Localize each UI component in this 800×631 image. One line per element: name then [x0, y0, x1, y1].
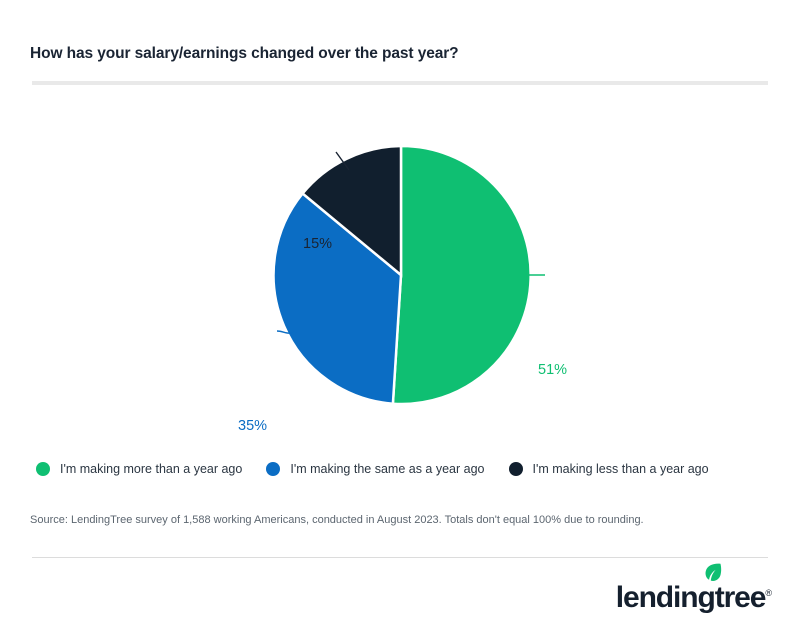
legend-label-more: I'm making more than a year ago: [60, 462, 242, 476]
pie-data-label-same: 35%: [238, 418, 267, 434]
legend-item-more[interactable]: I'm making more than a year ago: [36, 462, 242, 476]
brand-wordmark-container: lendingtree®: [616, 578, 772, 613]
pie-data-label-more: 51%: [538, 362, 567, 378]
footer-divider: [32, 557, 768, 558]
legend-item-less[interactable]: I'm making less than a year ago: [509, 462, 709, 476]
brand-name: lendingtree: [616, 581, 766, 614]
legend-swatch-less-icon: [509, 462, 523, 476]
pie-slices: [274, 146, 531, 404]
legend-label-less: I'm making less than a year ago: [533, 462, 709, 476]
title-divider: [32, 81, 768, 85]
pie-slice-more[interactable]: [393, 146, 531, 404]
brand-trademark: ®: [765, 588, 772, 598]
brand-logo[interactable]: lendingtree®: [616, 575, 772, 615]
legend-item-same[interactable]: I'm making the same as a year ago: [266, 462, 484, 476]
legend-swatch-more-icon: [36, 462, 50, 476]
pie-chart-svg: [0, 100, 800, 430]
page-title: How has your salary/earnings changed ove…: [30, 44, 750, 64]
chart-page: How has your salary/earnings changed ove…: [0, 0, 800, 631]
legend-swatch-same-icon: [266, 462, 280, 476]
pie-chart: 51% 35% 15%: [0, 100, 800, 430]
source-note: Source: LendingTree survey of 1,588 work…: [30, 513, 760, 528]
pie-data-label-less: 15%: [303, 236, 332, 252]
chart-legend: I'm making more than a year ago I'm maki…: [36, 459, 776, 479]
leaf-icon: [703, 563, 722, 583]
legend-label-same: I'm making the same as a year ago: [290, 462, 484, 476]
